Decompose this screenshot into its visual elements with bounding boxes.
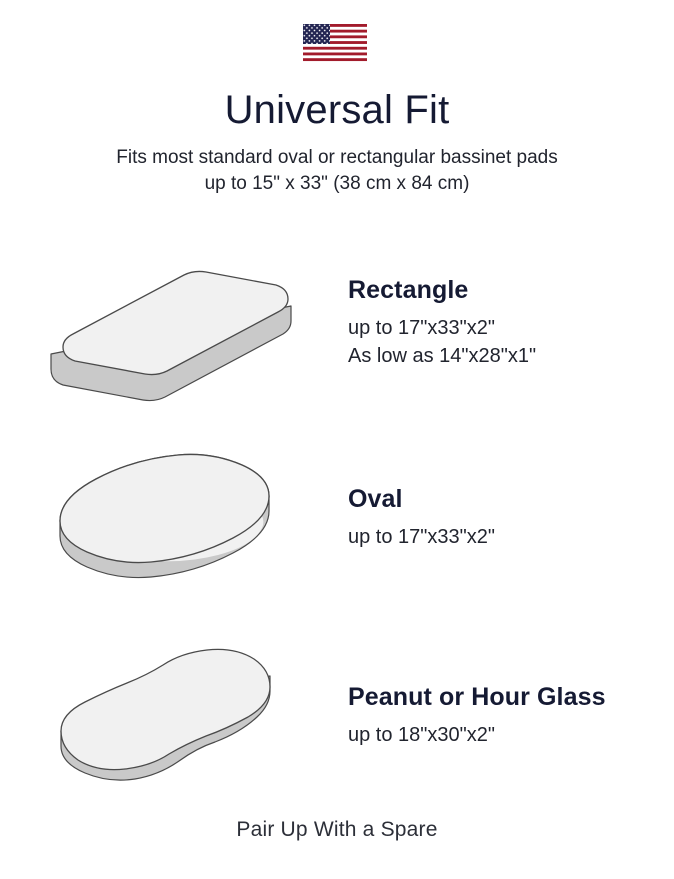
- item-row-oval: Oval up to 17"x33"x2": [0, 442, 674, 594]
- item-sub-line-1: up to 17"x33"x2": [348, 523, 674, 551]
- peanut-mattress-icon: [55, 639, 285, 794]
- peanut-figure: [0, 639, 340, 794]
- item-title-oval: Oval: [348, 485, 674, 514]
- item-sub-peanut: up to 18"x30"x2": [348, 721, 674, 749]
- item-sub-oval: up to 17"x33"x2": [348, 523, 674, 551]
- rectangle-mattress-icon: [45, 241, 295, 406]
- page-title: Universal Fit: [0, 88, 674, 132]
- oval-mattress-icon: [55, 443, 285, 593]
- infographic-page: Universal Fit Fits most standard oval or…: [0, 0, 674, 879]
- peanut-text-block: Peanut or Hour Glass up to 18"x30"x2": [340, 683, 674, 749]
- item-sub-line-1: up to 18"x30"x2": [348, 721, 674, 749]
- subtitle-line-1: Fits most standard oval or rectangular b…: [0, 145, 674, 171]
- item-sub-line-1: up to 17"x33"x2": [348, 314, 674, 342]
- subtitle-line-2: up to 15" x 33" (38 cm x 84 cm): [0, 171, 674, 197]
- item-sub-rectangle: up to 17"x33"x2" As low as 14"x28"x1": [348, 314, 674, 370]
- rectangle-figure: [0, 241, 340, 406]
- oval-figure: [0, 443, 340, 593]
- item-title-peanut: Peanut or Hour Glass: [348, 683, 674, 712]
- item-title-rectangle: Rectangle: [348, 276, 674, 305]
- item-sub-line-2: As low as 14"x28"x1": [348, 342, 674, 370]
- page-subtitle: Fits most standard oval or rectangular b…: [0, 145, 674, 196]
- footer-tagline: Pair Up With a Spare: [0, 818, 674, 842]
- item-row-rectangle: Rectangle up to 17"x33"x2" As low as 14"…: [0, 243, 674, 403]
- item-row-peanut: Peanut or Hour Glass up to 18"x30"x2": [0, 638, 674, 794]
- oval-text-block: Oval up to 17"x33"x2": [340, 485, 674, 551]
- us-flag-icon: [303, 24, 367, 61]
- rectangle-text-block: Rectangle up to 17"x33"x2" As low as 14"…: [340, 276, 674, 370]
